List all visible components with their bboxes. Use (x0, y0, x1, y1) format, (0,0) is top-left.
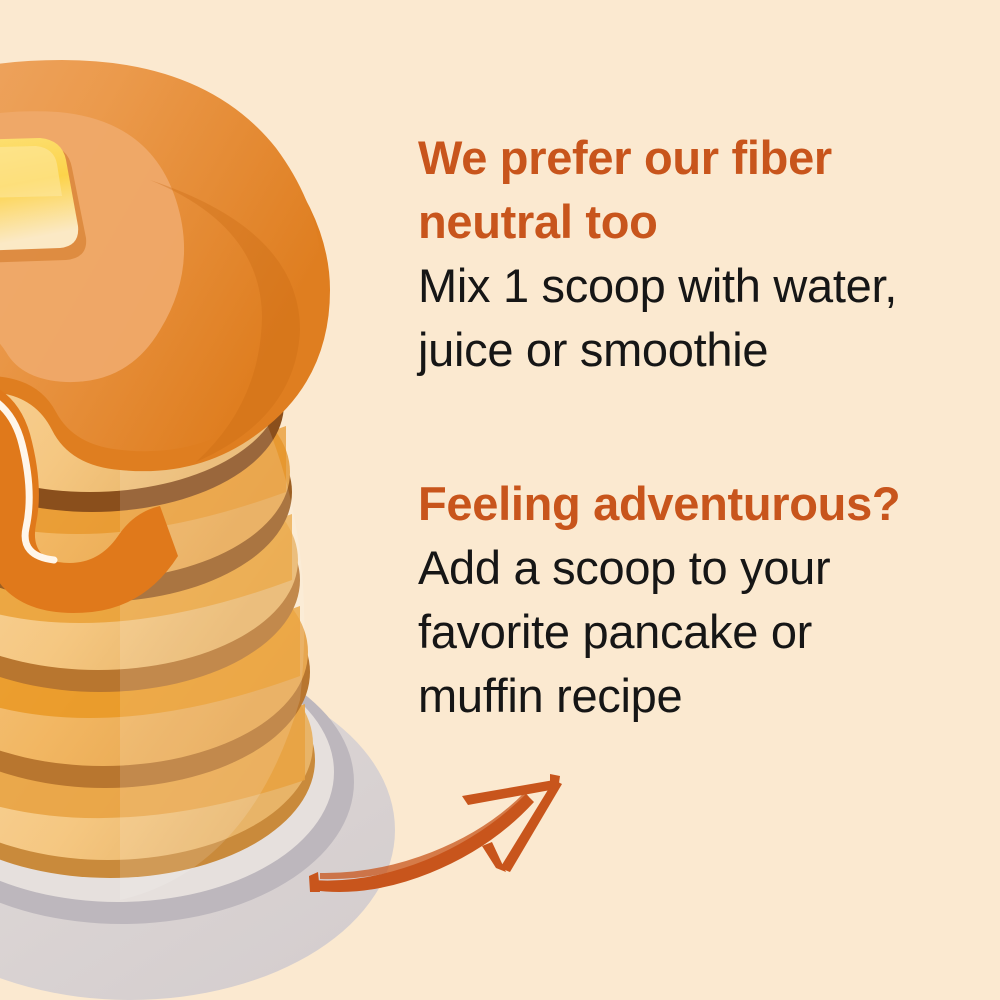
arrow-head-upper-leg (462, 780, 556, 805)
pancake-4-body (0, 538, 308, 766)
arrow-shaft (312, 794, 534, 892)
pancake-5-body (0, 628, 313, 860)
syrup-highlight-patch (0, 111, 184, 382)
hand-drawn-curved-arrow-icon (306, 772, 606, 897)
pancake-1-edge (0, 296, 284, 512)
pancake-4-edge (0, 556, 310, 788)
butter-top-sheen (0, 146, 62, 200)
butter-pat (0, 138, 78, 254)
pancake-3-edge (0, 468, 300, 692)
arrow-shaft-inner-line (320, 792, 529, 879)
pancake-2-edge (0, 382, 292, 602)
pancake-2-body (0, 364, 290, 580)
arrow-head-lower-leg (500, 780, 562, 872)
syrup-drip (0, 380, 178, 613)
copy-column: We prefer our fiber neutral too Mix 1 sc… (418, 126, 958, 728)
copy-block-2: Feeling adventurous? Add a scoop to your… (418, 472, 958, 728)
plate-shadow (0, 660, 395, 1000)
plate-ring (0, 640, 354, 924)
stack-highlight (120, 250, 304, 900)
plate-inner (0, 642, 334, 902)
pancake-5-shade (0, 700, 305, 818)
arrow-head-notch (482, 842, 506, 872)
syrup-white-highlight (0, 392, 54, 560)
copy-block-1: We prefer our fiber neutral too Mix 1 sc… (418, 126, 958, 382)
body-recipe-instructions: Add a scoop to your favorite pancake or … (418, 536, 958, 728)
pancake-5-edge (0, 642, 315, 878)
pancake-2-shade (0, 424, 286, 534)
syrup-shade-right (150, 180, 300, 462)
heading-fiber-neutral: We prefer our fiber neutral too (418, 126, 958, 254)
butter-shadow (0, 144, 86, 266)
heading-feeling-adventurous: Feeling adventurous? (418, 472, 958, 536)
arrow-tail-tick (309, 872, 320, 892)
pancake-4-shade (0, 600, 300, 718)
pancake-stack-illustration (0, 0, 460, 1000)
syrup-base (0, 72, 330, 471)
syrup-top-surface (0, 60, 322, 451)
arrow-head-tip-tick (550, 774, 560, 790)
pancake-1-body (0, 280, 282, 492)
infographic-canvas: We prefer our fiber neutral too Mix 1 sc… (0, 0, 1000, 1000)
pancake-3-body (0, 450, 298, 670)
pancake-3-shade (0, 512, 292, 623)
body-mix-instructions: Mix 1 scoop with water, juice or smoothi… (418, 254, 958, 382)
